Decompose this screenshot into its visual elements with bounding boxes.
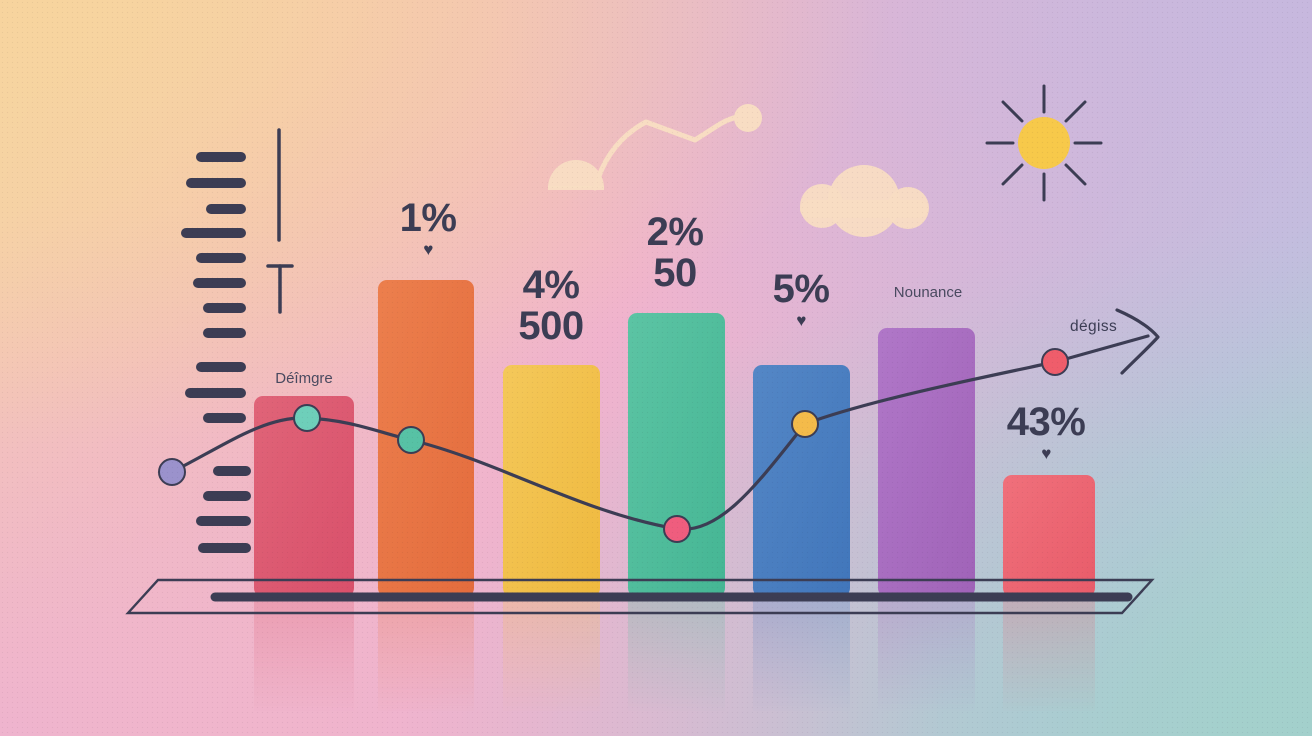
category-label: Déîmgre bbox=[275, 370, 333, 387]
category-label: Nounance bbox=[894, 284, 962, 301]
bar-value-secondary: 500 bbox=[518, 306, 583, 347]
bar-value-primary: 43% bbox=[1007, 402, 1086, 443]
chevron-marker-icon: ♥ bbox=[773, 312, 830, 329]
chevron-marker-icon: ♥ bbox=[1007, 445, 1086, 462]
label-layer: 1% ♥ 4% 500 2% 50 5% ♥ 43% ♥ Déîmgre Nou… bbox=[0, 0, 1312, 736]
bar-value-primary: 2% bbox=[647, 212, 704, 253]
chart-canvas: 1% ♥ 4% 500 2% 50 5% ♥ 43% ♥ Déîmgre Nou… bbox=[0, 0, 1312, 736]
bar-value-label: 1% ♥ bbox=[400, 198, 457, 258]
bar-value-label: 5% ♥ bbox=[773, 269, 830, 329]
trend-line-label: dégiss bbox=[1070, 318, 1117, 336]
bar-value-label: 4% 500 bbox=[518, 265, 583, 347]
bar-value-primary: 5% bbox=[773, 269, 830, 310]
bar-value-label: 2% 50 bbox=[647, 212, 704, 294]
bar-value-primary: 1% bbox=[400, 198, 457, 239]
chevron-marker-icon: ♥ bbox=[400, 241, 457, 258]
bar-value-label: 43% ♥ bbox=[1007, 402, 1086, 462]
bar-value-primary: 4% bbox=[518, 265, 583, 306]
bar-value-secondary: 50 bbox=[647, 253, 704, 294]
